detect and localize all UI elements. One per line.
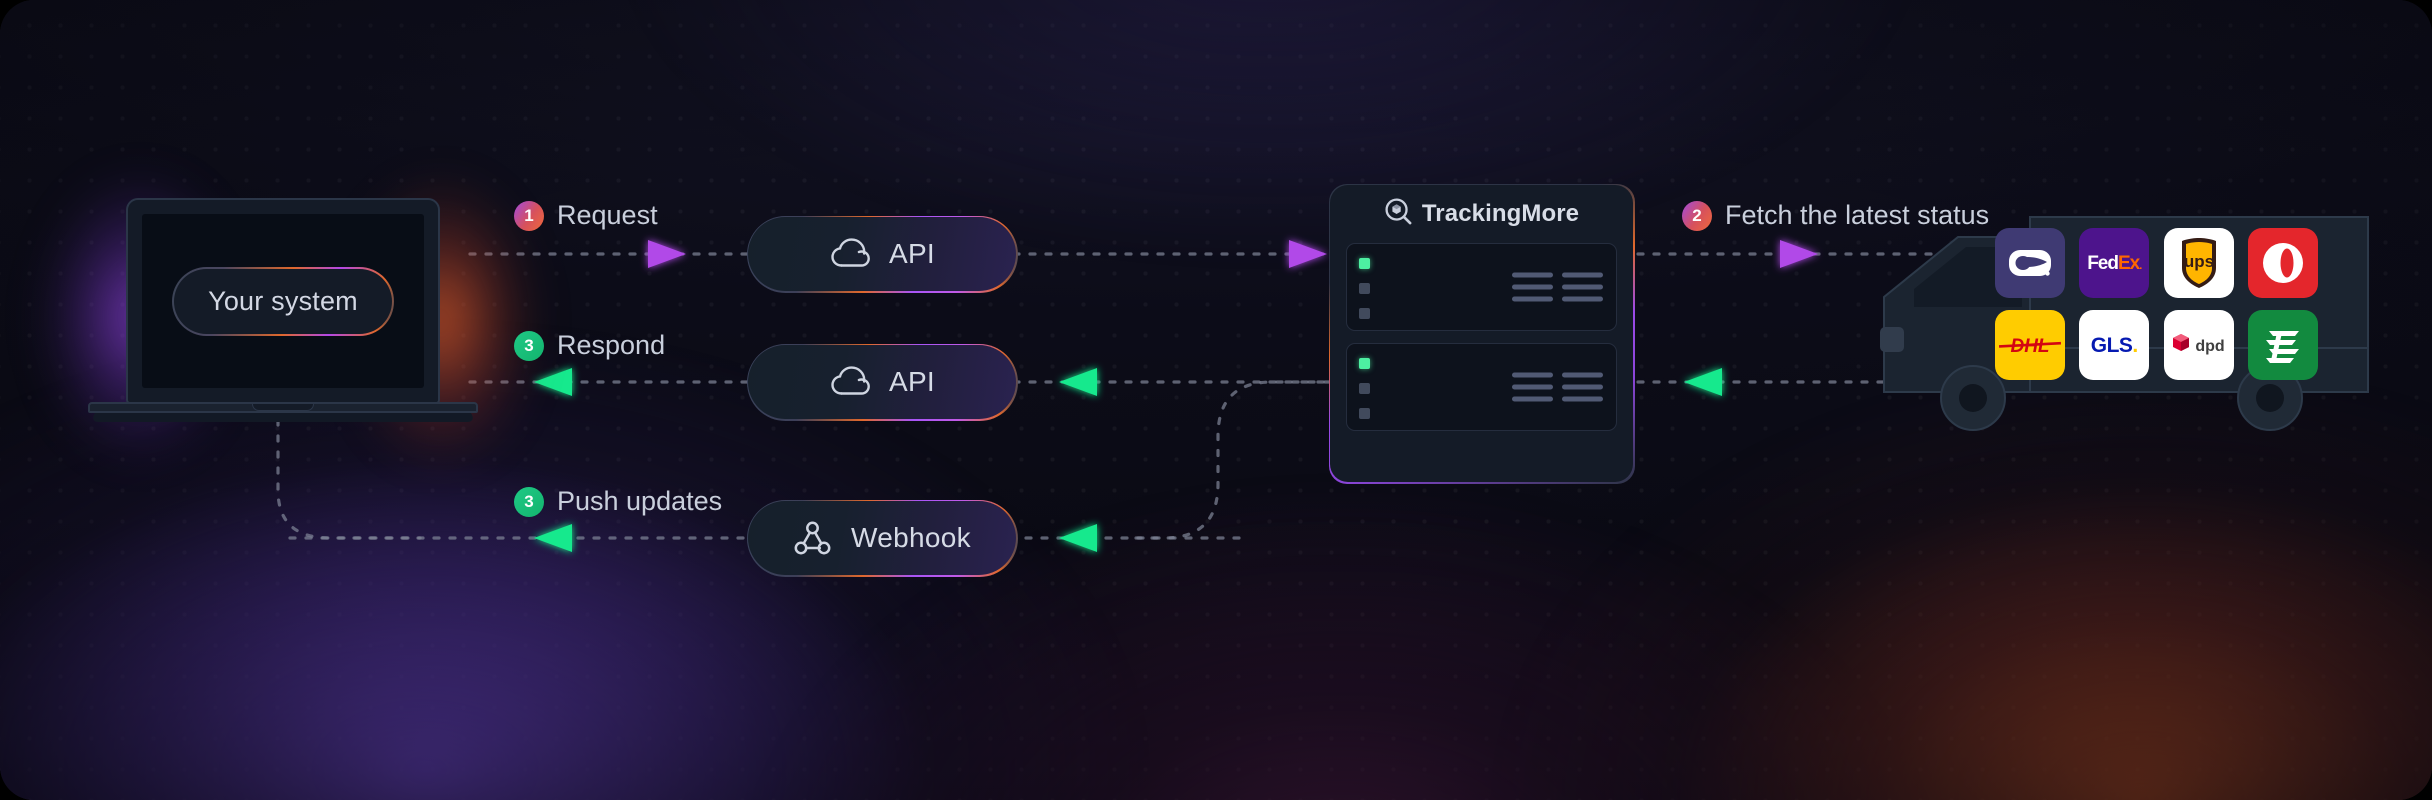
rack-bar-column xyxy=(1562,273,1603,302)
svg-text:ups: ups xyxy=(2183,252,2213,271)
australia-post-icon[interactable] xyxy=(2248,228,2318,298)
node-label-api-request: API xyxy=(889,238,935,270)
ems-icon[interactable] xyxy=(2248,310,2318,380)
cloud-icon xyxy=(829,238,871,270)
rack-bars xyxy=(1512,373,1603,402)
wire-trackingmore-to-webhook xyxy=(1130,382,1330,538)
laptop-screen: Your system xyxy=(142,214,424,388)
gls-icon[interactable]: GLS. xyxy=(2079,310,2149,380)
diagram-canvas: Your system 1 Request 3 Respond 3 Push u… xyxy=(0,0,2432,800)
webhook-icon xyxy=(793,519,833,557)
your-system-pill[interactable]: Your system xyxy=(174,269,392,334)
step-badge-3-respond: 3 xyxy=(514,331,544,361)
laptop-deck xyxy=(88,402,478,413)
dpd-icon[interactable]: dpd xyxy=(2164,310,2234,380)
dhl-icon[interactable]: DHL xyxy=(1995,310,2065,380)
rack-led-off xyxy=(1359,408,1370,419)
rack-bar-column xyxy=(1562,373,1603,402)
rack-led-off xyxy=(1359,383,1370,394)
carrier-logo-grid: FedEx. ups DHL xyxy=(1995,228,2320,380)
step-3-respond: 3 Respond xyxy=(514,330,665,361)
step-label-request: Request xyxy=(557,200,658,231)
rack-led-on xyxy=(1359,358,1370,369)
rack-bars xyxy=(1512,273,1603,302)
step-3-push-updates: 3 Push updates xyxy=(514,486,722,517)
node-label-webhook: Webhook xyxy=(851,522,971,554)
your-system-label: Your system xyxy=(208,286,358,316)
rack-led-on xyxy=(1359,258,1370,269)
laptop-trackpad-notch xyxy=(252,404,314,411)
step-badge-3-push: 3 xyxy=(514,487,544,517)
rack-led-off xyxy=(1359,283,1370,294)
laptop-lid: Your system xyxy=(126,198,440,404)
rack-bar-column xyxy=(1512,273,1553,302)
trackingmore-card[interactable]: TrackingMore xyxy=(1330,185,1633,482)
rack-led-off xyxy=(1359,308,1370,319)
svg-text:dpd: dpd xyxy=(2195,338,2224,355)
node-webhook[interactable]: Webhook xyxy=(748,501,1016,575)
step-badge-1: 1 xyxy=(514,201,544,231)
node-label-api-respond: API xyxy=(889,366,935,398)
trackingmore-header: TrackingMore xyxy=(1330,185,1633,243)
fedex-icon[interactable]: FedEx. xyxy=(2079,228,2149,298)
node-api-respond[interactable]: API xyxy=(748,345,1016,419)
rack-bar-column xyxy=(1512,373,1553,402)
server-rack-row xyxy=(1346,243,1617,331)
server-rack-row xyxy=(1346,343,1617,431)
cloud-icon xyxy=(829,366,871,398)
china-post-icon[interactable] xyxy=(1995,228,2065,298)
trackingmore-title: TrackingMore xyxy=(1422,200,1579,228)
step-label-respond: Respond xyxy=(557,330,665,361)
trackingmore-magnifier-icon xyxy=(1384,197,1413,231)
laptop-base xyxy=(88,402,478,422)
your-system-laptop: Your system xyxy=(88,198,478,428)
step-1-request: 1 Request xyxy=(514,200,658,231)
step-label-push-updates: Push updates xyxy=(557,486,722,517)
ups-icon[interactable]: ups xyxy=(2164,228,2234,298)
laptop-foot xyxy=(89,413,477,422)
node-api-request[interactable]: API xyxy=(748,217,1016,291)
step-badge-2: 2 xyxy=(1682,201,1712,231)
